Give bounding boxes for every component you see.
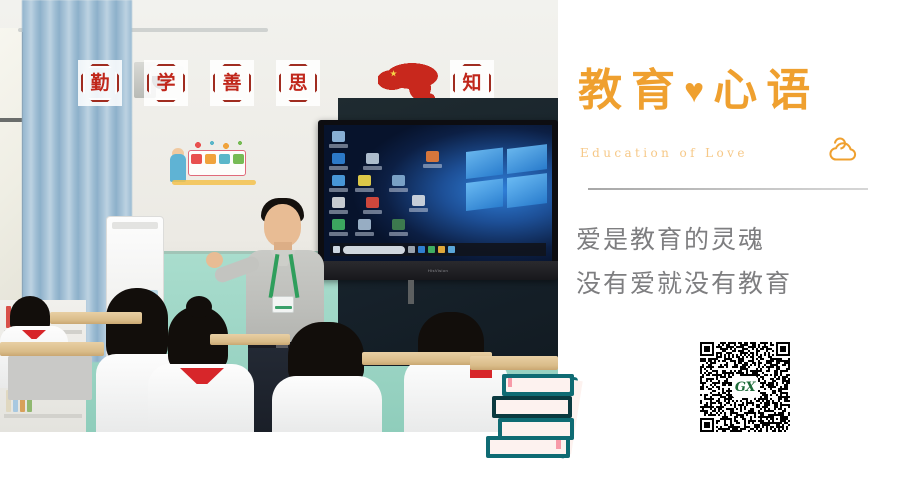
book-bookmark bbox=[508, 378, 512, 387]
placard: 善 bbox=[210, 60, 254, 106]
divider bbox=[588, 188, 868, 190]
taskbar-icon bbox=[418, 246, 425, 253]
classroom-photo: 勤 学 善 思 知 bbox=[0, 0, 558, 432]
placard: 思 bbox=[276, 60, 320, 106]
student-desk bbox=[0, 342, 104, 356]
title-char-2: 育 bbox=[631, 69, 675, 113]
wall-decal bbox=[166, 140, 262, 186]
star-icon bbox=[390, 70, 397, 77]
desktop-icon bbox=[332, 153, 345, 164]
smartboard-brand: HisVision bbox=[428, 268, 448, 273]
placard-char: 思 bbox=[288, 74, 307, 93]
teacher-head bbox=[264, 204, 301, 247]
qr-center-logo: GX bbox=[732, 376, 758, 398]
desktop-icon bbox=[358, 175, 371, 186]
teacher-hand bbox=[206, 252, 223, 268]
taskbar-icon bbox=[438, 246, 445, 253]
title-char-4: 语 bbox=[766, 69, 810, 113]
smartboard-stand bbox=[408, 280, 414, 304]
desktop-icons bbox=[330, 129, 448, 247]
decal-block bbox=[233, 154, 244, 164]
desktop-icon bbox=[412, 195, 425, 206]
placard-char: 善 bbox=[222, 74, 241, 93]
text-panel: 教 育 ♥ 心 语 Education of Love 爱是教育的灵魂 没有爱就… bbox=[558, 0, 900, 500]
desktop-icon bbox=[332, 175, 345, 186]
heart-icon: ♥ bbox=[684, 74, 704, 108]
decal-block bbox=[205, 154, 216, 164]
student-desk bbox=[470, 356, 558, 370]
taskbar-icon bbox=[408, 246, 415, 253]
desktop-icon bbox=[332, 131, 345, 142]
taskbar-icon bbox=[428, 246, 435, 253]
cloud-icon bbox=[823, 134, 859, 164]
book-pages bbox=[490, 440, 566, 454]
placard-char: 知 bbox=[462, 74, 481, 93]
student bbox=[148, 306, 254, 432]
book-pages bbox=[506, 378, 570, 392]
ac-vent bbox=[112, 222, 158, 229]
decal-block bbox=[191, 154, 202, 164]
desktop-icon bbox=[392, 175, 405, 186]
desktop-icon bbox=[366, 197, 379, 208]
poster-canvas: 勤 学 善 思 知 bbox=[0, 0, 900, 500]
desk-body bbox=[8, 356, 92, 400]
book-bookmark bbox=[556, 440, 561, 449]
desktop-icon bbox=[366, 153, 379, 164]
decal-wave bbox=[172, 180, 256, 185]
student-desk bbox=[50, 312, 142, 324]
desktop-icon bbox=[392, 219, 405, 230]
taskbar-search bbox=[343, 246, 405, 254]
poster-subtitle: Education of Love bbox=[580, 146, 748, 160]
decal-child-body bbox=[170, 154, 186, 182]
placard-char: 学 bbox=[156, 74, 175, 93]
decal-dots bbox=[192, 140, 252, 150]
taskbar bbox=[330, 243, 546, 256]
smartboard: HisVision bbox=[318, 120, 558, 280]
taskbar-icon bbox=[448, 246, 455, 253]
title-char-1: 教 bbox=[578, 69, 622, 113]
desktop-icon bbox=[358, 219, 371, 230]
poster-title: 教 育 ♥ 心 语 bbox=[578, 62, 878, 120]
decal-block bbox=[219, 154, 230, 164]
book-pages bbox=[502, 422, 570, 436]
stacked-books-icon bbox=[486, 372, 600, 460]
tagline-line-2: 没有爱就没有教育 bbox=[576, 262, 886, 306]
placard: 学 bbox=[144, 60, 188, 106]
smartboard-screen bbox=[324, 125, 552, 261]
windows-logo-wallpaper bbox=[466, 142, 548, 214]
smartboard-bezel: HisVision bbox=[318, 261, 558, 280]
teacher-id-badge bbox=[272, 296, 294, 313]
tagline: 爱是教育的灵魂 没有爱就没有教育 bbox=[576, 218, 886, 306]
qr-code[interactable]: GX bbox=[700, 342, 790, 432]
qr-logo-text: GX bbox=[735, 380, 755, 395]
desktop-icon bbox=[426, 151, 439, 162]
placard-char: 勤 bbox=[90, 74, 109, 93]
book-pages bbox=[496, 400, 568, 414]
title-char-3: 心 bbox=[713, 69, 757, 113]
placard: 勤 bbox=[78, 60, 122, 106]
tagline-line-1: 爱是教育的灵魂 bbox=[576, 218, 886, 262]
student-desk bbox=[210, 334, 290, 345]
